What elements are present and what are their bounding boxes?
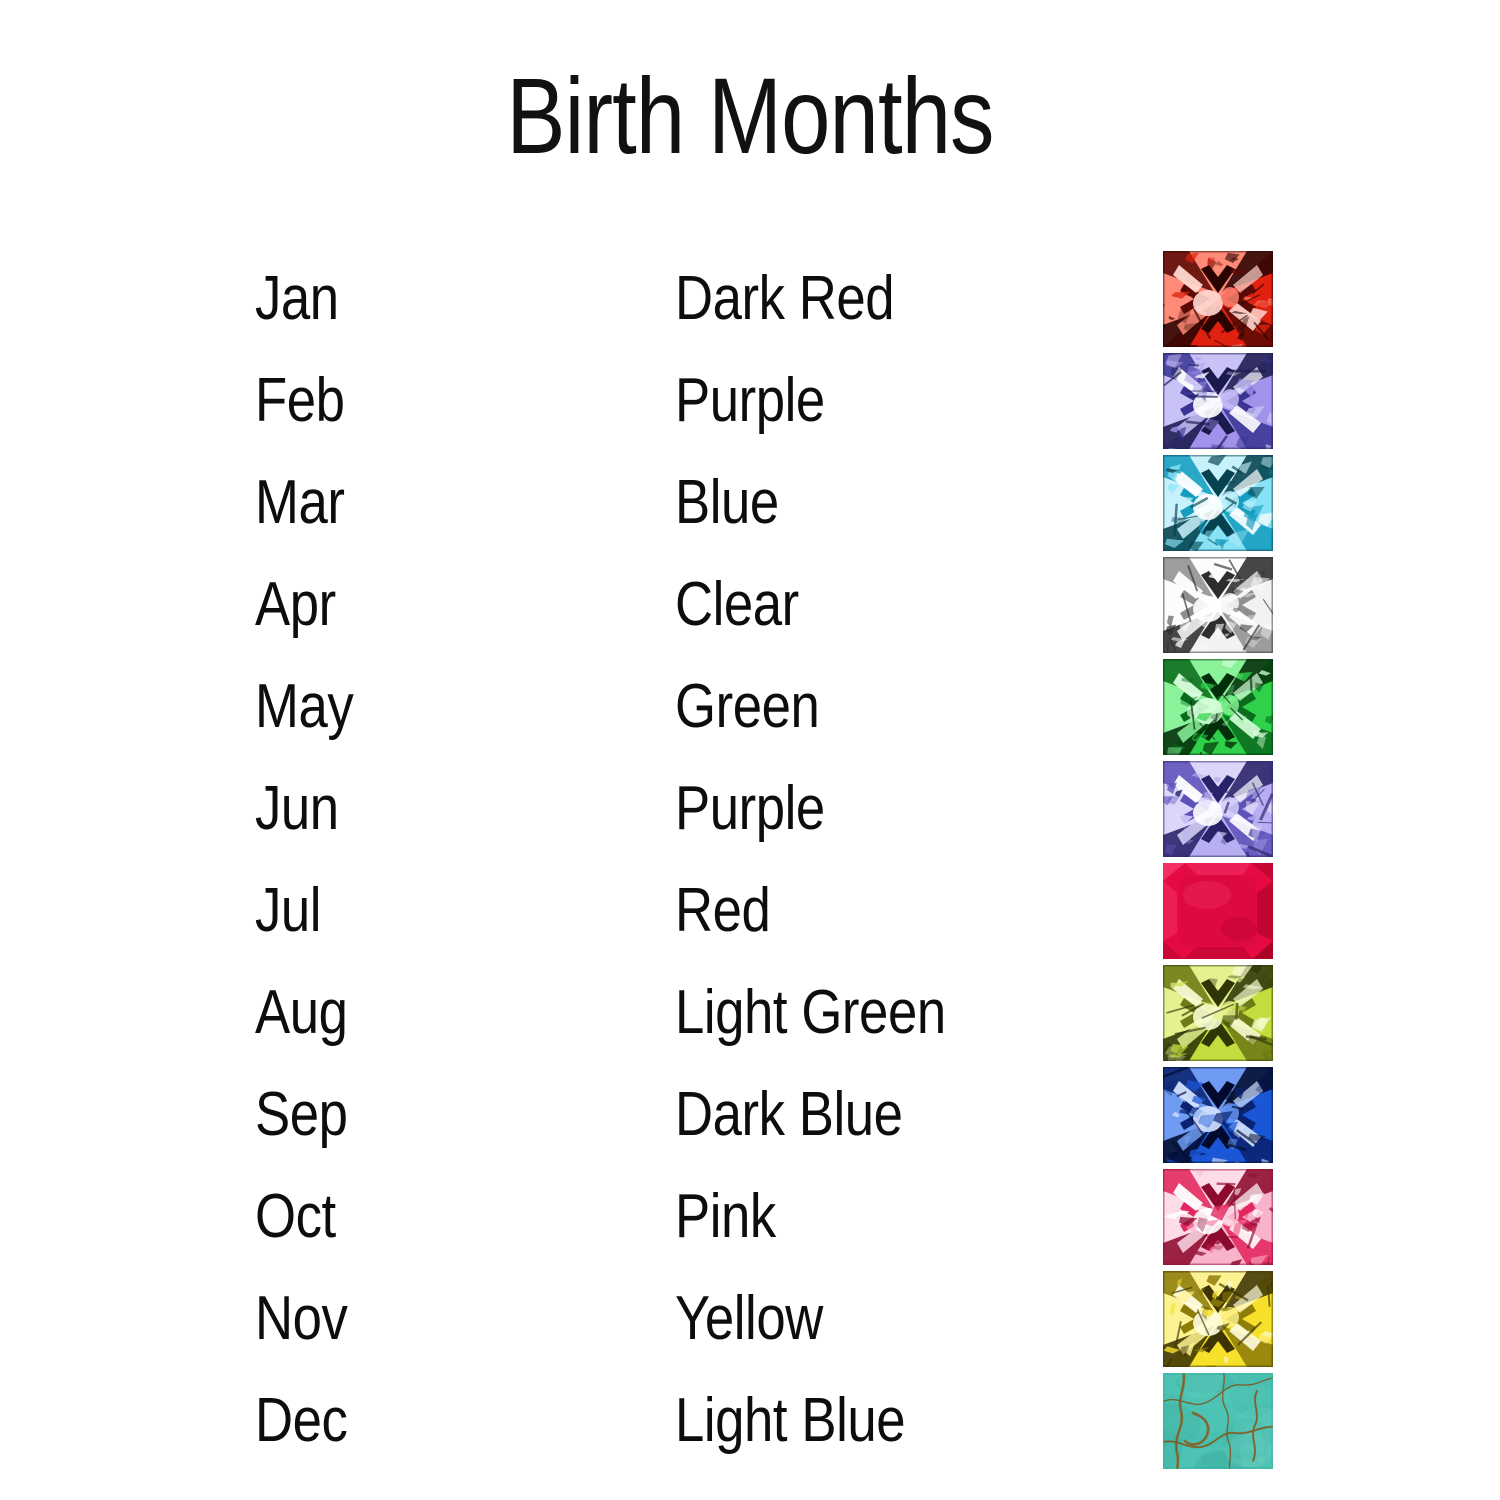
- color-label: Blue: [675, 452, 1117, 554]
- turquoise-gem-icon: [1163, 1373, 1273, 1469]
- table-row: JulRed: [0, 860, 1500, 962]
- color-label: Purple: [675, 350, 1117, 452]
- month-label: May: [255, 656, 595, 758]
- amethyst-gem-icon: [1163, 353, 1273, 449]
- table-row: AprClear: [0, 554, 1500, 656]
- month-label: Jan: [255, 248, 595, 350]
- emerald-gem-icon: [1163, 659, 1273, 755]
- month-label: Oct: [255, 1166, 595, 1268]
- color-label: Purple: [675, 758, 1117, 860]
- color-label: Yellow: [675, 1268, 1117, 1370]
- tourmaline-gem-icon: [1163, 1169, 1273, 1265]
- color-label: Pink: [675, 1166, 1117, 1268]
- alexandrite-gem-icon: [1163, 761, 1273, 857]
- peridot-gem-icon: [1163, 965, 1273, 1061]
- table-row: DecLight Blue: [0, 1370, 1500, 1472]
- month-label: Jul: [255, 860, 595, 962]
- table-row: NovYellow: [0, 1268, 1500, 1370]
- color-label: Light Green: [675, 962, 1117, 1064]
- color-label: Dark Blue: [675, 1064, 1117, 1166]
- color-label: Dark Red: [675, 248, 1117, 350]
- ruby-gem-icon: [1163, 863, 1273, 959]
- table-row: JunPurple: [0, 758, 1500, 860]
- diamond-gem-icon: [1163, 557, 1273, 653]
- birth-months-page: Birth Months JanDark RedFebPurpleMarBlue…: [0, 0, 1500, 1500]
- citrine-gem-icon: [1163, 1271, 1273, 1367]
- month-label: Mar: [255, 452, 595, 554]
- aquamarine-gem-icon: [1163, 455, 1273, 551]
- color-label: Light Blue: [675, 1370, 1117, 1472]
- page-title: Birth Months: [135, 62, 1365, 170]
- table-row: OctPink: [0, 1166, 1500, 1268]
- color-label: Red: [675, 860, 1117, 962]
- birth-months-table: JanDark RedFebPurpleMarBlueAprClearMayGr…: [0, 248, 1500, 1472]
- month-label: Dec: [255, 1370, 595, 1472]
- sapphire-gem-icon: [1163, 1067, 1273, 1163]
- month-label: Feb: [255, 350, 595, 452]
- month-label: Apr: [255, 554, 595, 656]
- month-label: Jun: [255, 758, 595, 860]
- garnet-gem-icon: [1163, 251, 1273, 347]
- month-label: Nov: [255, 1268, 595, 1370]
- month-label: Aug: [255, 962, 595, 1064]
- table-row: FebPurple: [0, 350, 1500, 452]
- table-row: AugLight Green: [0, 962, 1500, 1064]
- table-row: MarBlue: [0, 452, 1500, 554]
- color-label: Green: [675, 656, 1117, 758]
- color-label: Clear: [675, 554, 1117, 656]
- table-row: MayGreen: [0, 656, 1500, 758]
- table-row: SepDark Blue: [0, 1064, 1500, 1166]
- month-label: Sep: [255, 1064, 595, 1166]
- table-row: JanDark Red: [0, 248, 1500, 350]
